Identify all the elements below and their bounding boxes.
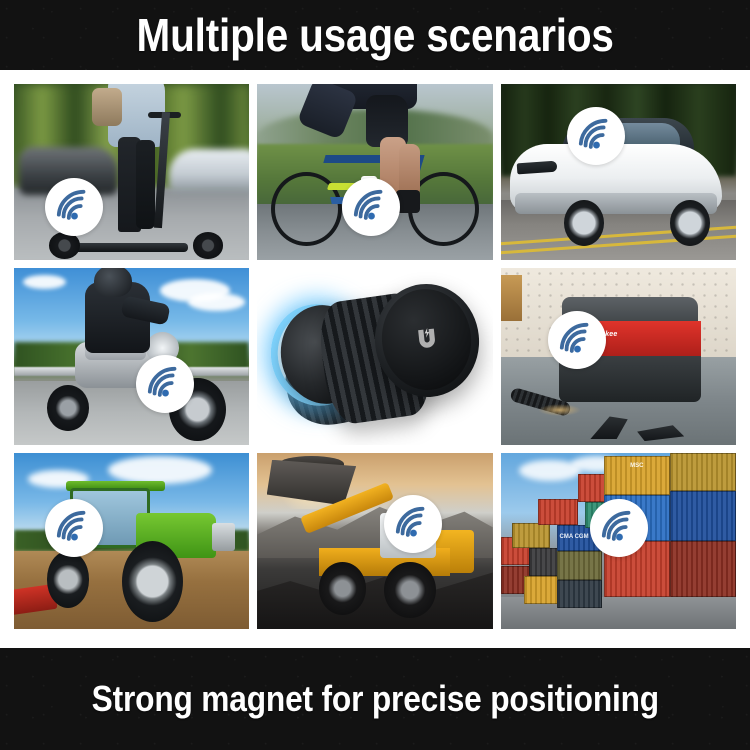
wifi-signal-icon	[342, 178, 400, 236]
cell-car	[501, 84, 736, 260]
wifi-signal-icon	[567, 107, 625, 165]
cell-containers: MSC CMA CGM	[501, 453, 736, 629]
container	[604, 456, 670, 495]
rider-leg-front	[136, 140, 155, 228]
container-label-msc: MSC	[630, 463, 643, 469]
container	[512, 523, 550, 548]
car-headlight	[517, 160, 558, 173]
footer-banner: Strong magnet for precise positioning	[0, 648, 750, 750]
motorcycle-rear-wheel	[47, 385, 89, 431]
container	[557, 551, 602, 579]
cyclist-shin-back	[399, 144, 420, 197]
cloud	[23, 275, 65, 289]
cell-loader	[257, 453, 492, 629]
wood-plank	[501, 275, 522, 321]
wifi-signal-icon	[548, 311, 606, 369]
container	[670, 491, 736, 540]
cell-scooter	[14, 84, 249, 260]
rider-helmet	[94, 268, 132, 296]
scenario-grid: Milwaukee	[14, 84, 736, 629]
cell-motorcycle	[14, 268, 249, 444]
loader-front-wheel	[319, 562, 366, 615]
footer-caption: Strong magnet for precise positioning	[91, 681, 658, 717]
wifi-signal-icon	[45, 178, 103, 236]
horseshoe-magnet-icon	[411, 324, 442, 355]
container-label-cma: CMA CGM	[559, 534, 588, 540]
wifi-signal-icon	[45, 499, 103, 557]
container	[538, 499, 578, 525]
tractor-grille	[212, 523, 236, 551]
cell-bicycle	[257, 84, 492, 260]
cell-product	[257, 268, 492, 444]
cell-power-tool: Milwaukee	[501, 268, 736, 444]
scooter-front-wheel	[193, 232, 224, 258]
container	[670, 541, 736, 597]
wifi-signal-icon	[590, 499, 648, 557]
cell-tractor	[14, 453, 249, 629]
container	[557, 580, 602, 608]
sawdust-pile	[538, 404, 580, 416]
tractor-rear-wheel	[122, 541, 183, 622]
page-title: Multiple usage scenarios	[136, 12, 613, 58]
wifi-signal-icon	[136, 355, 194, 413]
scooter-rear-wheel	[49, 232, 80, 258]
cloud	[188, 293, 244, 311]
wifi-signal-icon	[384, 495, 442, 553]
container	[670, 453, 736, 492]
header-banner: Multiple usage scenarios	[0, 0, 750, 70]
tractor-front-wheel	[47, 551, 89, 607]
passing-car-white	[169, 149, 249, 191]
backpack	[92, 88, 123, 127]
